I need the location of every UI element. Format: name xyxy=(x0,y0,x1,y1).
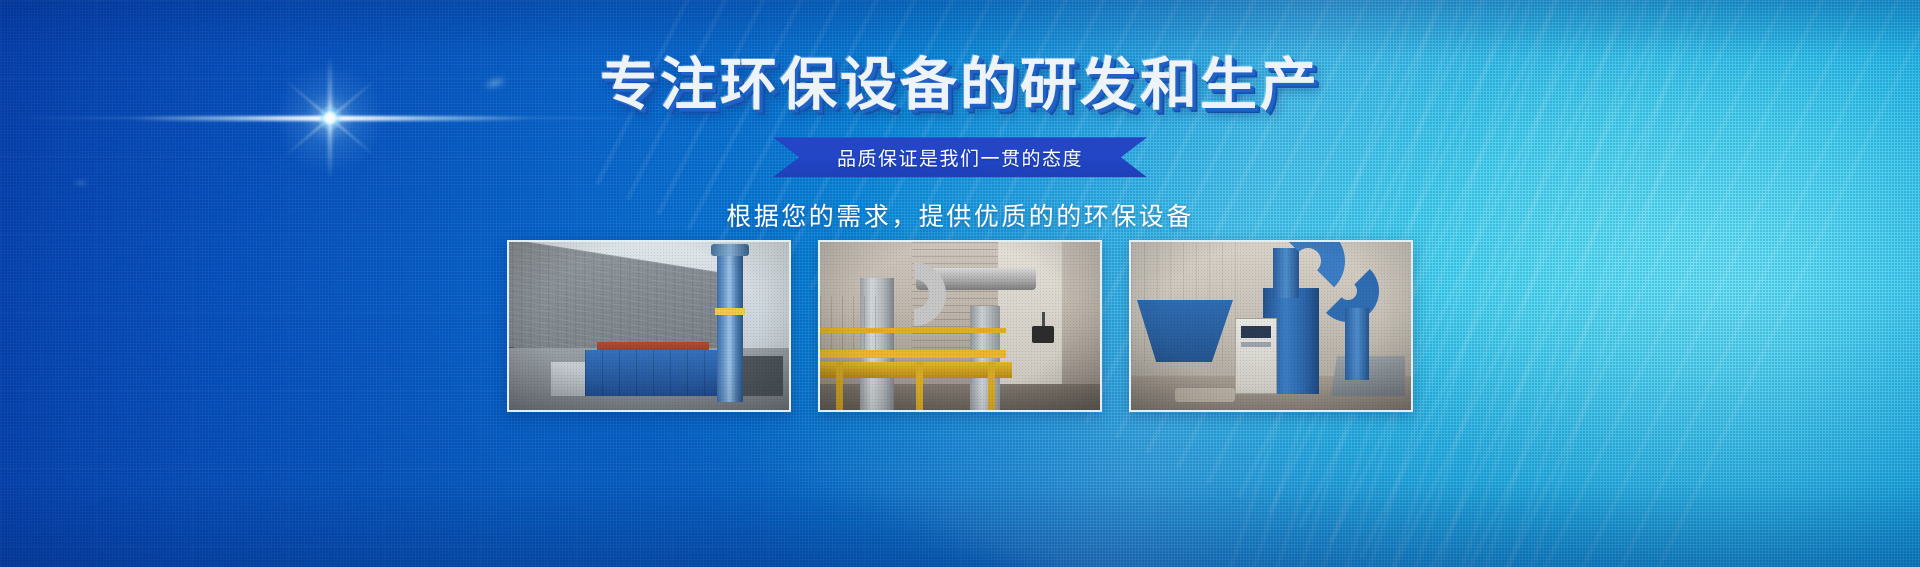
photo-cyclone-cabinet xyxy=(1129,240,1413,412)
photo-warehouse-exhaust xyxy=(507,240,791,412)
hero-banner: 专注环保设备的研发和生产 品质保证是我们一贯的态度 根据您的需求，提供优质的的环… xyxy=(0,0,1920,567)
photo-gallery xyxy=(0,240,1920,412)
photo-plant-walkway xyxy=(818,240,1102,412)
